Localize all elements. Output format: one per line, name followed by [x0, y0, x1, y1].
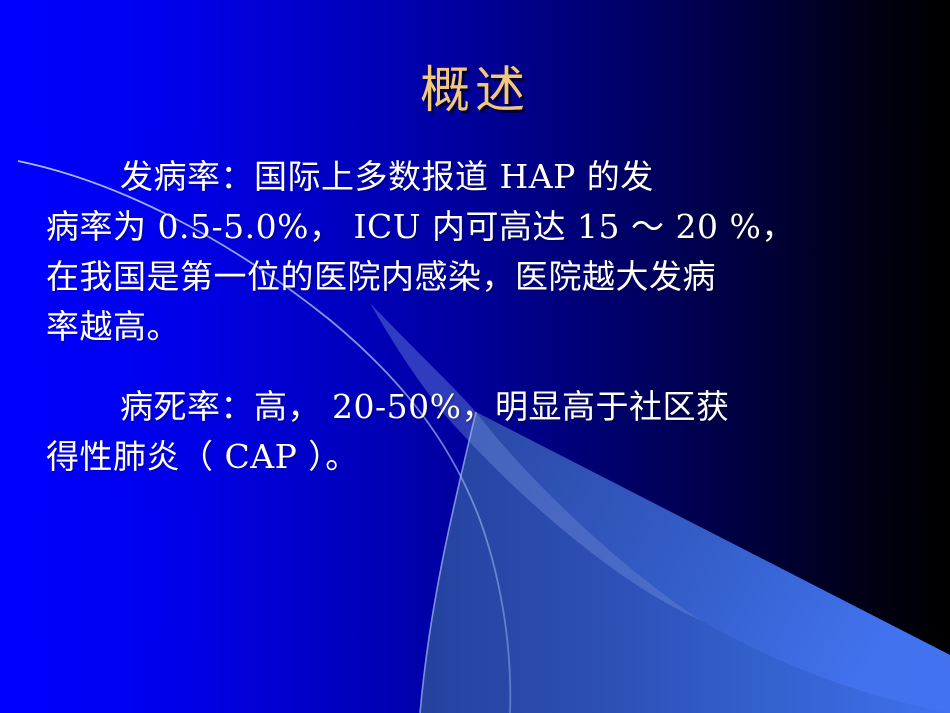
- paragraph-line: 率越高。: [46, 307, 180, 346]
- slide-body: 发病率：国际上多数报道 HAP 的发病率为 0.5-5.0%， ICU 内可高达…: [46, 152, 918, 482]
- paragraph-line: 病率为 0.5-5.0%， ICU 内可高达 15 ～ 20 %，: [46, 207, 795, 246]
- slide-title: 概述: [420, 62, 530, 118]
- slide-title-block: 概述: [0, 62, 950, 118]
- paragraph-line: 病死率：高， 20-50%，明显高于社区获: [120, 387, 729, 426]
- paragraph-line: 发病率：国际上多数报道 HAP 的发: [120, 157, 654, 196]
- paragraph-line: 在我国是第一位的医院内感染，医院越大发病: [46, 257, 716, 296]
- paragraph-line: 得性肺炎（ CAP ）。: [46, 437, 359, 476]
- slide-canvas: 概述 发病率：国际上多数报道 HAP 的发病率为 0.5-5.0%， ICU 内…: [0, 0, 950, 713]
- paragraph-incidence: 发病率：国际上多数报道 HAP 的发病率为 0.5-5.0%， ICU 内可高达…: [46, 152, 918, 352]
- paragraph-mortality: 病死率：高， 20-50%，明显高于社区获得性肺炎（ CAP ）。: [46, 382, 918, 482]
